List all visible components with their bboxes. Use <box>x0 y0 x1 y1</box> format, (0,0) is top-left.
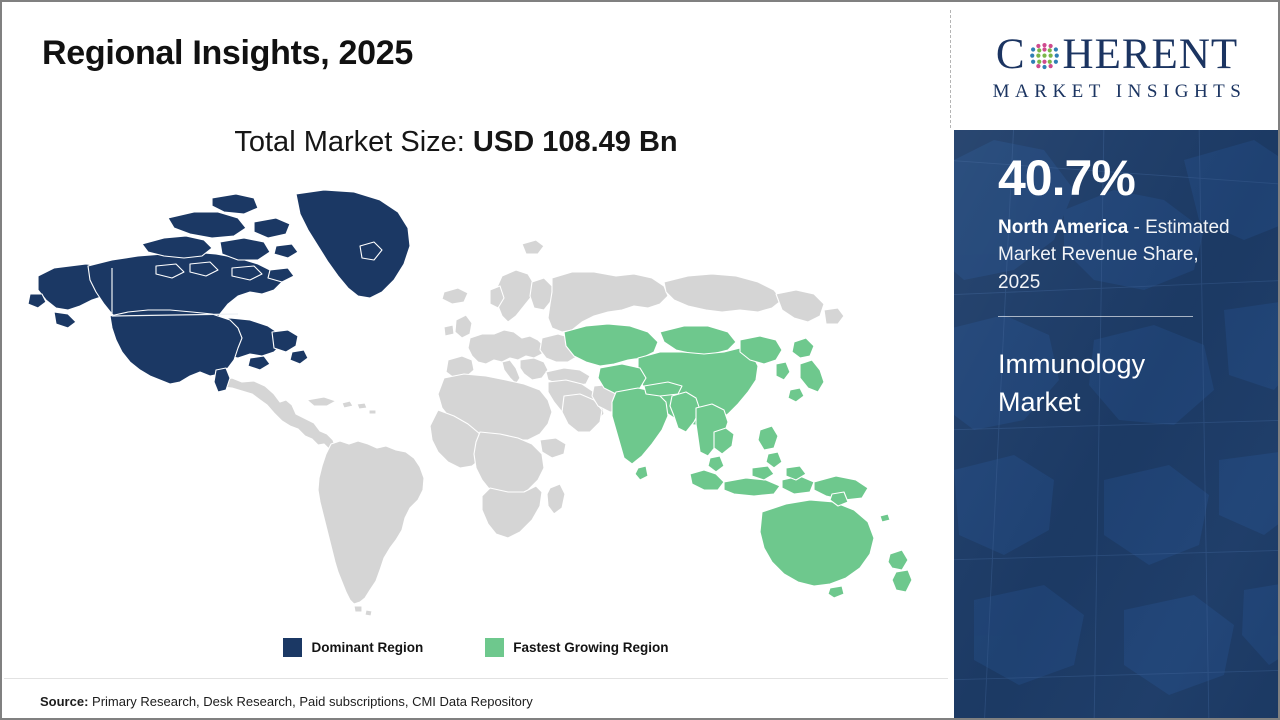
market-name: Immunology Market <box>998 345 1228 422</box>
stat-divider <box>998 316 1193 317</box>
source-note: Source: Primary Research, Desk Research,… <box>40 694 533 709</box>
stat-panel: 40.7% North America - Estimated Market R… <box>954 130 1280 720</box>
stat-panel-content: 40.7% North America - Estimated Market R… <box>954 152 1280 422</box>
map-region-rest-of-world <box>220 240 844 616</box>
logo-wordmark-rest: HERENT <box>1063 33 1239 76</box>
square-swatch-icon-dominant <box>283 638 302 657</box>
regional-insights-infographic: Regional Insights, 2025 Total Market Siz… <box>0 0 1280 720</box>
total-market-size-value: USD 108.49 Bn <box>473 126 678 158</box>
logo-wordmark: C <box>996 31 1238 77</box>
world-map-svg <box>24 182 924 622</box>
legend-item-fastest-growing: Fastest Growing Region <box>485 638 668 657</box>
logo-tagline: MARKET INSIGHTS <box>988 81 1247 103</box>
dotted-globe-icon <box>1027 39 1062 74</box>
brand-logo: C <box>954 4 1280 130</box>
left-content-pane: Regional Insights, 2025 Total Market Siz… <box>2 2 950 718</box>
stat-region-name: North America <box>998 217 1128 238</box>
page-title: Regional Insights, 2025 <box>42 34 413 73</box>
logo-letter-c: C <box>996 33 1026 76</box>
total-market-size: Total Market Size: USD 108.49 Bn <box>2 126 910 159</box>
source-label: Source: <box>40 694 88 709</box>
square-swatch-icon-fastest-growing <box>485 638 504 657</box>
world-map <box>24 182 924 622</box>
map-region-north-america <box>28 190 410 392</box>
vertical-dashed-divider <box>950 10 951 128</box>
legend-label-fastest-growing: Fastest Growing Region <box>513 640 668 655</box>
source-text: Primary Research, Desk Research, Paid su… <box>88 694 532 709</box>
stat-value: 40.7% <box>998 152 1236 205</box>
total-market-size-prefix: Total Market Size: <box>234 126 473 158</box>
stat-caption: North America - Estimated Market Revenue… <box>998 214 1236 297</box>
map-legend: Dominant Region Fastest Growing Region <box>2 638 950 657</box>
footer-divider <box>4 678 948 679</box>
map-region-asia-pacific <box>564 324 912 598</box>
legend-label-dominant: Dominant Region <box>311 640 423 655</box>
legend-item-dominant: Dominant Region <box>283 638 423 657</box>
